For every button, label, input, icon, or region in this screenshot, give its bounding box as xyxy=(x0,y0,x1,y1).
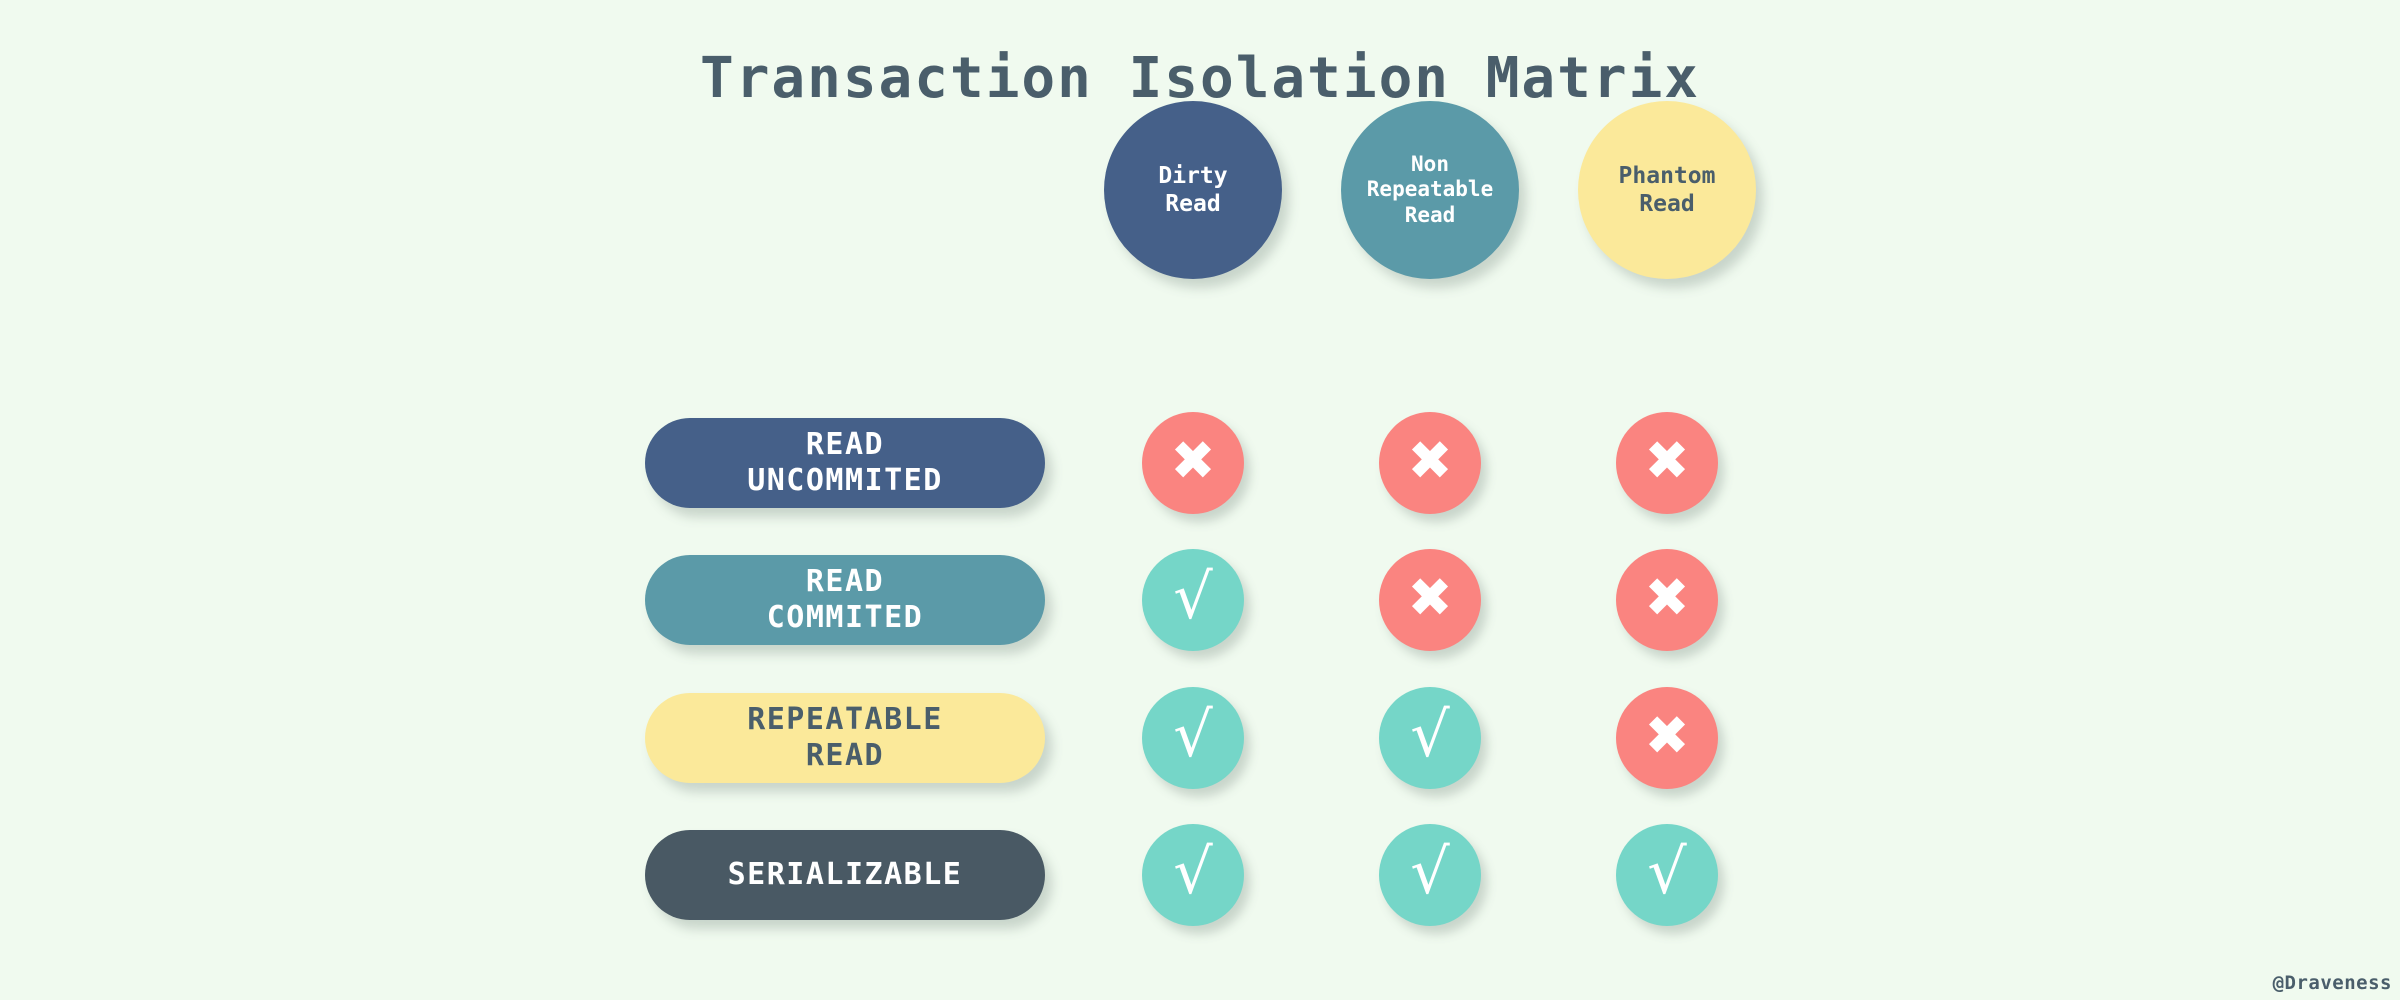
watermark-credit: @Draveness xyxy=(2273,972,2392,994)
cell-read-commited-dirty-read: √ xyxy=(1142,549,1244,651)
row-label-repeatable-read: REPEATABLE READ xyxy=(645,693,1045,783)
check-icon: √ xyxy=(1173,841,1213,903)
check-icon: √ xyxy=(1173,566,1213,628)
check-icon: √ xyxy=(1410,704,1450,766)
cell-serializable-dirty-read: √ xyxy=(1142,824,1244,926)
cell-read-commited-phantom-read: ✖ xyxy=(1616,549,1718,651)
isolation-matrix: Dirty ReadNon Repeatable ReadPhantom Rea… xyxy=(0,0,2400,1000)
cell-repeatable-read-phantom-read: ✖ xyxy=(1616,687,1718,789)
column-header-phantom-read: Phantom Read xyxy=(1578,101,1756,279)
cross-icon: ✖ xyxy=(1170,434,1215,488)
cross-icon: ✖ xyxy=(1644,434,1689,488)
row-label-read-commited: READ COMMITED xyxy=(645,555,1045,645)
row-label-serializable: SERIALIZABLE xyxy=(645,830,1045,920)
cell-read-uncommited-non-repeatable-read: ✖ xyxy=(1379,412,1481,514)
column-header-dirty-read: Dirty Read xyxy=(1104,101,1282,279)
cell-serializable-non-repeatable-read: √ xyxy=(1379,824,1481,926)
cross-icon: ✖ xyxy=(1407,434,1452,488)
check-icon: √ xyxy=(1173,704,1213,766)
cell-repeatable-read-non-repeatable-read: √ xyxy=(1379,687,1481,789)
cell-read-uncommited-phantom-read: ✖ xyxy=(1616,412,1718,514)
cell-read-commited-non-repeatable-read: ✖ xyxy=(1379,549,1481,651)
cross-icon: ✖ xyxy=(1644,571,1689,625)
cell-serializable-phantom-read: √ xyxy=(1616,824,1718,926)
cell-read-uncommited-dirty-read: ✖ xyxy=(1142,412,1244,514)
column-header-non-repeatable-read: Non Repeatable Read xyxy=(1341,101,1519,279)
row-label-read-uncommited: READ UNCOMMITED xyxy=(645,418,1045,508)
cross-icon: ✖ xyxy=(1644,709,1689,763)
check-icon: √ xyxy=(1410,841,1450,903)
cross-icon: ✖ xyxy=(1407,571,1452,625)
cell-repeatable-read-dirty-read: √ xyxy=(1142,687,1244,789)
check-icon: √ xyxy=(1647,841,1687,903)
